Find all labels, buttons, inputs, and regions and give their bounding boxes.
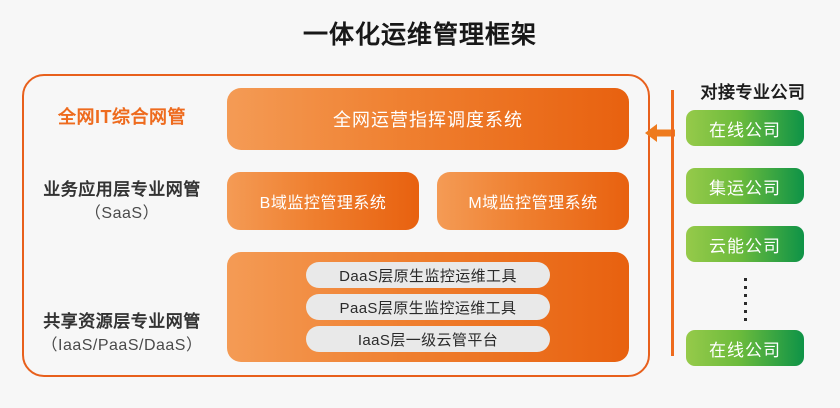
ellipsis-dot xyxy=(744,286,747,289)
pill-iaas-platform[interactable]: IaaS层一级云管平台 xyxy=(306,326,550,352)
row-label-shared-resource-layer: 共享资源层专业网管 （IaaS/PaaS/DaaS） xyxy=(24,310,220,358)
ellipsis-dot xyxy=(744,318,747,321)
right-column-title: 对接专业公司 xyxy=(678,78,828,103)
ellipsis-dot xyxy=(744,302,747,305)
row-label-main: 共享资源层专业网管 xyxy=(24,310,220,334)
pill-daas-tool[interactable]: DaaS层原生监控运维工具 xyxy=(306,262,550,288)
company-pill-online-2[interactable]: 在线公司 xyxy=(686,330,804,366)
ellipsis-vertical-icon xyxy=(686,276,804,322)
company-pill-yunneng[interactable]: 云能公司 xyxy=(686,226,804,262)
company-pill-online-1[interactable]: 在线公司 xyxy=(686,110,804,146)
connector-vertical-line xyxy=(671,90,674,356)
ellipsis-dot xyxy=(744,294,747,297)
diagram-root: 一体化运维管理框架 全网IT综合网管 业务应用层专业网管 （SaaS） 共享资源… xyxy=(0,0,840,408)
block-operation-command-system[interactable]: 全网运营指挥调度系统 xyxy=(227,88,629,150)
block-b-domain-monitoring[interactable]: B域监控管理系统 xyxy=(227,172,419,230)
row-label-sub: （IaaS/PaaS/DaaS） xyxy=(24,334,220,358)
ellipsis-dot xyxy=(744,310,747,313)
row-label-main: 业务应用层专业网管 xyxy=(24,178,220,202)
row-label-main: 全网IT综合网管 xyxy=(24,105,220,129)
company-pill-jiyun[interactable]: 集运公司 xyxy=(686,168,804,204)
row-label-network-management: 全网IT综合网管 xyxy=(24,105,220,129)
page-title: 一体化运维管理框架 xyxy=(0,18,840,52)
row-label-sub: （SaaS） xyxy=(24,202,220,226)
block-m-domain-monitoring[interactable]: M域监控管理系统 xyxy=(437,172,629,230)
ellipsis-dot xyxy=(744,278,747,281)
row-label-saas-layer: 业务应用层专业网管 （SaaS） xyxy=(24,178,220,226)
pill-paas-tool[interactable]: PaaS层原生监控运维工具 xyxy=(306,294,550,320)
block-shared-resource-tools: DaaS层原生监控运维工具 PaaS层原生监控运维工具 IaaS层一级云管平台 xyxy=(227,252,629,362)
